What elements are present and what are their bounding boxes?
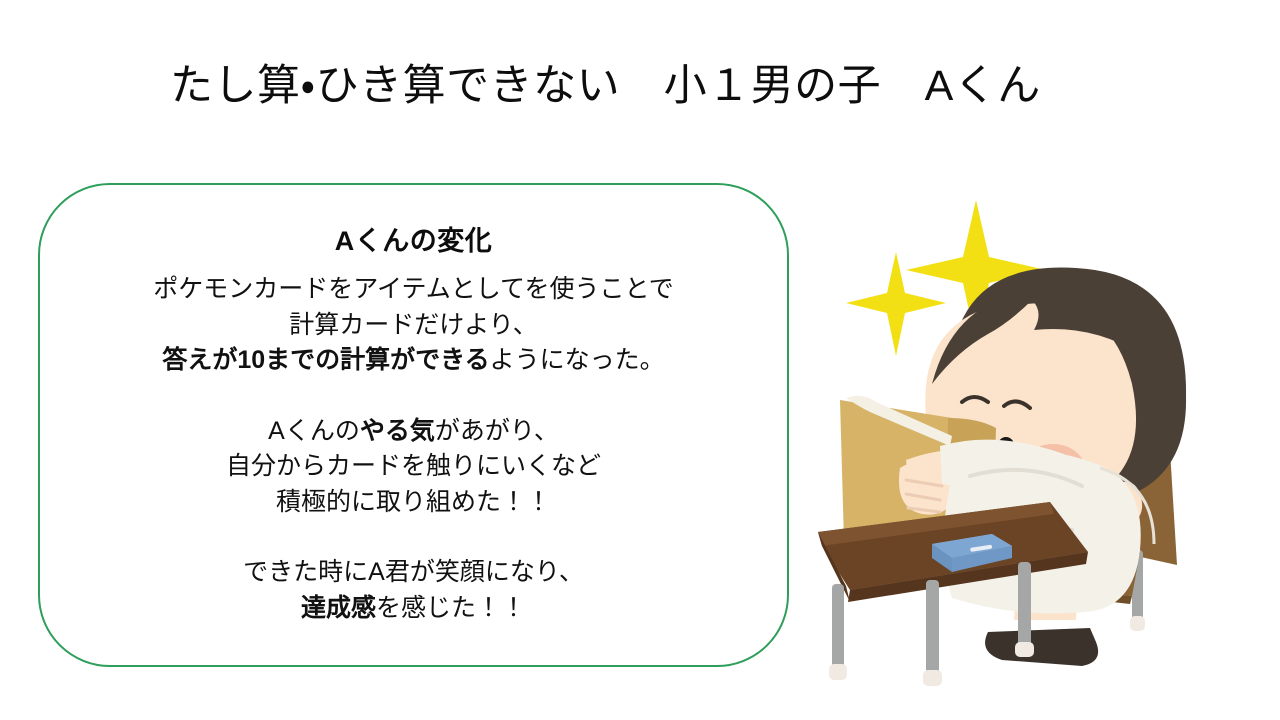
plain-text: 自分からカードを触りにいくなど <box>226 452 601 480</box>
info-box: Aくんの変化 ポケモンカードをアイテムとしてを使うことで計算カードだけより、答え… <box>38 183 789 667</box>
info-line: Aくんのやる気があがり、 <box>268 417 559 445</box>
emphasis-text: やる気 <box>360 417 435 445</box>
plain-text: があがり、 <box>435 417 559 445</box>
info-paragraph: ポケモンカードをアイテムとしてを使うことで計算カードだけより、答えが10までの計… <box>66 272 761 379</box>
plain-text: ポケモンカードをアイテムとしてを使うことで <box>153 275 674 303</box>
info-paragraph: Aくんのやる気があがり、自分からカードを触りにいくなど積極的に取り組めた！！ <box>66 414 761 521</box>
plain-text: Aくんの <box>268 417 360 445</box>
emphasis-text: 達成感 <box>301 594 376 622</box>
page-title: たし算・ひき算できない 小１男の子 Aくん <box>170 60 1170 114</box>
plain-text: 積極的に取り組めた！！ <box>276 488 551 516</box>
plain-text: を感じた！！ <box>376 594 526 622</box>
info-box-heading: Aくんの変化 <box>40 219 787 258</box>
info-paragraph: できた時にA君が笑顔になり、達成感を感じた！！ <box>66 555 761 626</box>
illustration-boy-reading <box>810 180 1280 690</box>
info-line: 自分からカードを触りにいくなど <box>226 452 601 480</box>
info-line: 達成感を感じた！！ <box>301 594 526 622</box>
info-box-body: ポケモンカードをアイテムとしてを使うことで計算カードだけより、答えが10までの計… <box>66 272 761 626</box>
info-line: 答えが10までの計算ができるようになった。 <box>162 346 664 374</box>
plain-text: 計算カードだけより、 <box>289 311 538 339</box>
plain-text: ようになった。 <box>490 346 665 374</box>
info-line: ポケモンカードをアイテムとしてを使うことで <box>153 275 674 303</box>
info-line: できた時にA君が笑顔になり、 <box>243 558 584 586</box>
info-line: 計算カードだけより、 <box>289 311 538 339</box>
emphasis-text: 答えが10までの計算ができる <box>162 346 489 374</box>
info-line: 積極的に取り組めた！！ <box>276 488 551 516</box>
plain-text: できた時にA君が笑顔になり、 <box>243 558 584 586</box>
